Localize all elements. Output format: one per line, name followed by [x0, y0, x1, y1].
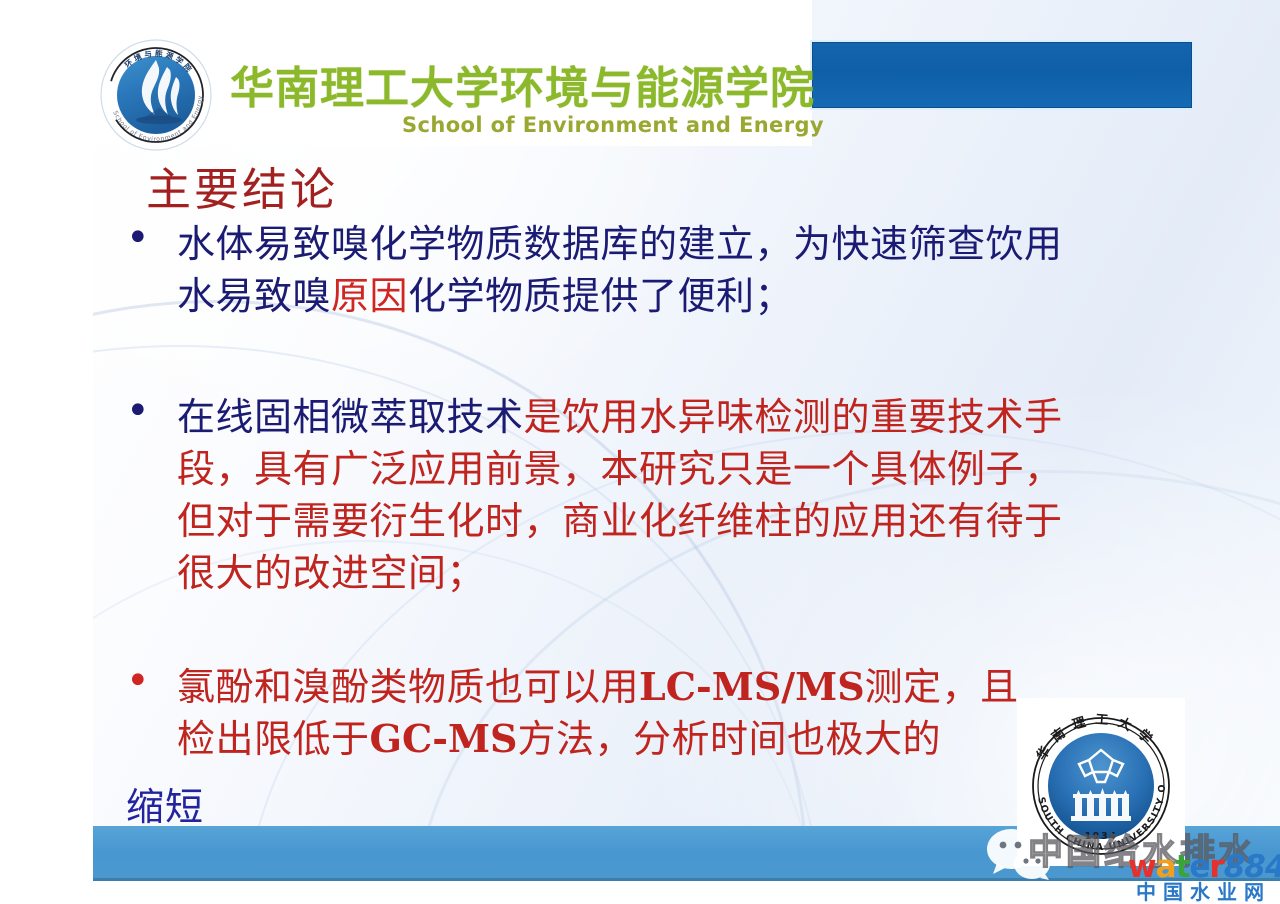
bullet-segment-highlight: 在线固相微萃取技术 — [177, 395, 524, 439]
bullet-tail-word: 缩短 — [126, 781, 204, 833]
bullet-item: • 水体易致嗅化学物质数据库的建立，为快速筛查饮用水易致嗅原因化学物质提供了便利… — [126, 218, 1086, 322]
slide-title: 主要结论 — [146, 153, 338, 218]
watermark-brand-cn: 中国水业网 — [1136, 876, 1271, 904]
bullet-marker: • — [126, 218, 150, 258]
bullet-segment-method: LC-MS/MS — [639, 664, 865, 709]
header-blue-block — [812, 42, 1192, 108]
bullet-segment: 方法，分析时间也极大的 — [518, 717, 942, 761]
header-title-en: School of Environment and Energy — [402, 113, 824, 137]
bullet-text: 在线固相微萃取技术是饮用水异味检测的重要技术手段，具有广泛应用前景，本研究只是一… — [177, 391, 1086, 599]
bullet-segment-highlight: 原因 — [331, 274, 408, 318]
bullet-segment: 化学物质提供了便利； — [408, 274, 793, 318]
bullet-text: 氯酚和溴酚类物质也可以用LC-MS/MS测定，且检出限低于GC-MS方法，分析时… — [177, 661, 1026, 765]
header-title-cn: 华南理工大学环境与能源学院 — [230, 52, 815, 116]
bullet-text: 水体易致嗅化学物质数据库的建立，为快速筛查饮用水易致嗅原因化学物质提供了便利； — [177, 218, 1086, 322]
bullet-marker: • — [126, 391, 150, 431]
bullet-marker: • — [126, 661, 150, 701]
bullet-segment: 氯酚和溴酚类物质也可以用 — [177, 665, 639, 709]
slide-root: 环境与能源学院 School of Environment and Energy… — [0, 0, 1280, 904]
school-seal-logo: 环境与能源学院 School of Environment and Energy — [97, 36, 215, 154]
bullet-item: • 在线固相微萃取技术是饮用水异味检测的重要技术手段，具有广泛应用前景，本研究只… — [126, 391, 1086, 599]
bullet-item: • 氯酚和溴酚类物质也可以用LC-MS/MS测定，且检出限低于GC-MS方法，分… — [126, 661, 1026, 765]
bullet-segment-method: GC-MS — [370, 716, 518, 761]
